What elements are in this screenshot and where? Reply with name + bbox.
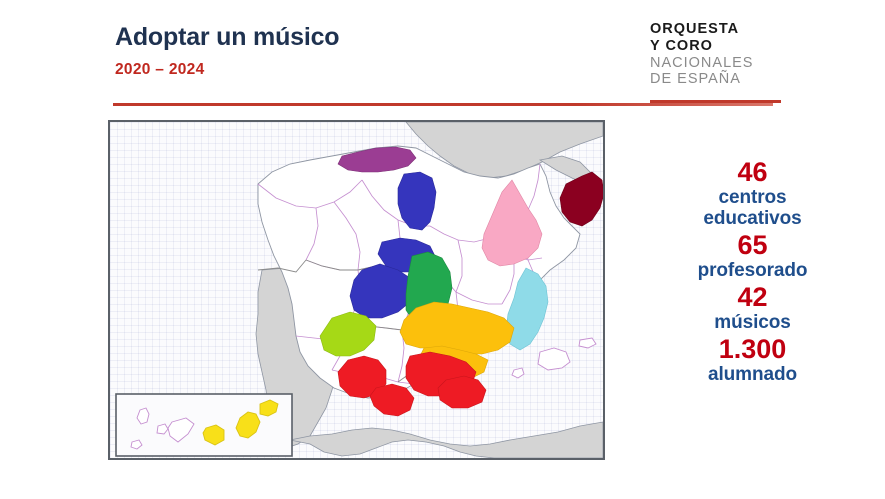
stat-group-centros: 46 centros educativos <box>620 158 885 229</box>
stat-group-musicos: 42 músicos <box>620 283 885 333</box>
island-ibiza <box>512 368 524 378</box>
island-menorca <box>579 338 596 348</box>
stat-group-profesorado: 65 profesorado <box>620 231 885 281</box>
region-barcelona[interactable] <box>560 172 603 226</box>
page-subtitle: 2020 – 2024 <box>115 61 339 79</box>
stat-label-alumnado: alumnado <box>620 364 885 385</box>
stat-label-centros-line2: educativos <box>620 208 885 229</box>
stat-number-centros: 46 <box>620 158 885 187</box>
slide-canvas: Adoptar un músico 2020 – 2024 ORQUESTA Y… <box>0 0 885 499</box>
logo-line-orquesta: ORQUESTA <box>650 21 753 38</box>
slide-header: Adoptar un músico 2020 – 2024 ORQUESTA Y… <box>0 0 885 104</box>
logo-line-ycoro: Y CORO <box>650 38 753 55</box>
island-mallorca <box>538 348 570 370</box>
stat-label-centros-line1: centros <box>620 187 885 208</box>
region-sevilla-south[interactable] <box>370 384 414 416</box>
map-panel <box>108 120 605 460</box>
region-jaen-east[interactable] <box>438 376 486 408</box>
morocco-shape <box>290 422 603 458</box>
title-block: Adoptar un músico 2020 – 2024 <box>115 24 339 79</box>
stat-number-alumnado: 1.300 <box>620 335 885 364</box>
canary-islands-inset <box>116 394 292 456</box>
stat-number-musicos: 42 <box>620 283 885 312</box>
brand-logo: ORQUESTA Y CORO NACIONALES DE ESPAÑA <box>650 21 753 88</box>
header-divider <box>113 103 773 106</box>
stat-label-musicos: músicos <box>620 312 885 333</box>
statistics-column: 46 centros educativos 65 profesorado 42 … <box>620 158 885 387</box>
logo-line-nacionales: NACIONALES <box>650 55 753 72</box>
stat-number-profesorado: 65 <box>620 231 885 260</box>
stat-group-alumnado: 1.300 alumnado <box>620 335 885 385</box>
page-title: Adoptar un músico <box>115 24 339 52</box>
spain-provinces-map <box>110 122 603 458</box>
logo-line-deespana: DE ESPAÑA <box>650 71 753 88</box>
stat-label-profesorado: profesorado <box>620 260 885 281</box>
